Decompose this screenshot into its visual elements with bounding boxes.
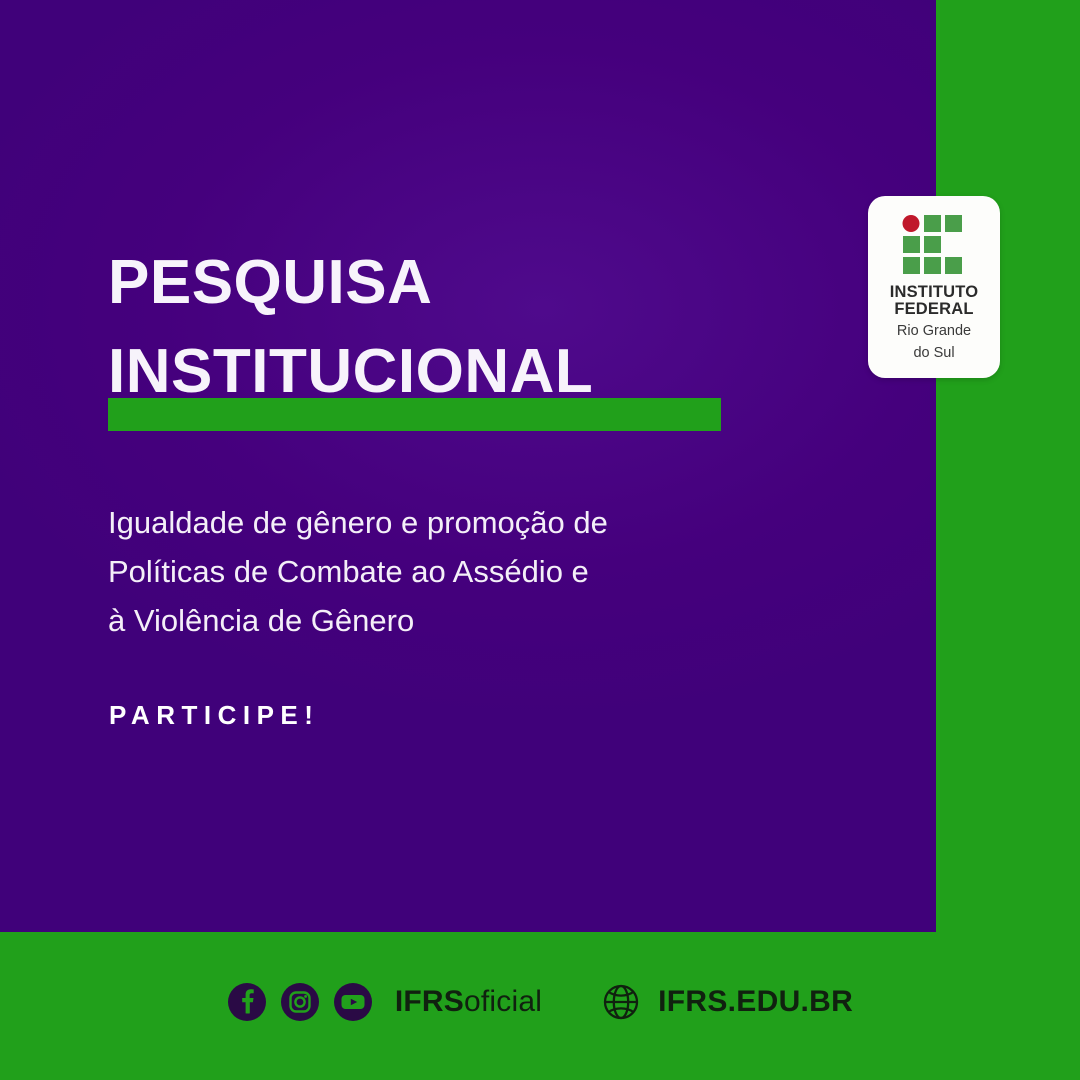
logo-state-line-1: Rio Grande (868, 322, 1000, 340)
poster-canvas: PESQUISA INSTITUCIONAL Igualdade de gêne… (0, 0, 1080, 1080)
instagram-icon[interactable] (280, 982, 320, 1022)
ifrs-logo-mark (900, 213, 968, 279)
logo-federal-line: FEDERAL (868, 301, 1000, 318)
footer-content: IFRSoficial IFRS.EDU.BR (227, 981, 853, 1023)
ifrs-logo-wordmark: INSTITUTO FEDERAL Rio Grande do Sul (868, 284, 1000, 362)
footer-bar: IFRSoficial IFRS.EDU.BR (0, 932, 1080, 1080)
facebook-icon[interactable] (227, 982, 267, 1022)
green-accent-rule (108, 398, 721, 431)
subtitle-line-3: à Violência de Gênero (108, 596, 808, 645)
logo-state-line-2: do Sul (868, 344, 1000, 362)
globe-icon (600, 981, 642, 1023)
ifrs-logo-badge: INSTITUTO FEDERAL Rio Grande do Sul (868, 196, 1000, 378)
subtitle: Igualdade de gênero e promoção de Políti… (108, 498, 808, 645)
website-url: IFRS.EDU.BR (658, 985, 853, 1019)
social-handle: IFRSoficial (395, 985, 542, 1019)
subtitle-line-2: Políticas de Combate ao Assédio e (108, 547, 808, 596)
youtube-icon[interactable] (333, 982, 373, 1022)
call-to-action-text: PARTICIPE! (109, 700, 319, 731)
page-title: PESQUISA INSTITUCIONAL (108, 238, 868, 418)
page-title-line-1: PESQUISA (108, 238, 868, 328)
website-group: IFRS.EDU.BR (600, 981, 853, 1023)
social-icon-group (227, 982, 373, 1022)
main-purple-panel (0, 0, 936, 932)
social-handle-light: oficial (464, 985, 542, 1018)
logo-institute-line: INSTITUTO (868, 284, 1000, 301)
social-handle-bold: IFRS (395, 985, 464, 1018)
subtitle-line-1: Igualdade de gênero e promoção de (108, 498, 808, 547)
